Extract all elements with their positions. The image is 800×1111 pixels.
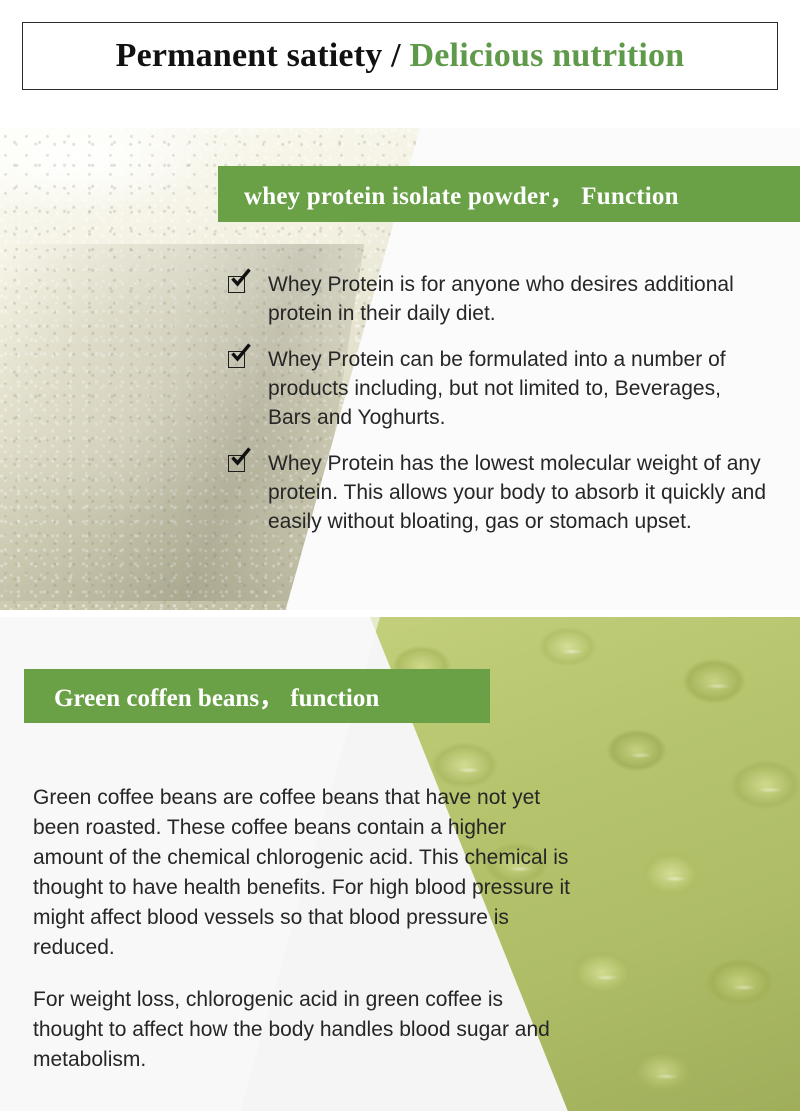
- whey-protein-benefit-list: Whey Protein is for anyone who desires a…: [228, 270, 788, 553]
- green-coffee-description: Green coffee beans are coffee beans that…: [33, 783, 573, 1097]
- list-item: Whey Protein has the lowest molecular we…: [228, 449, 788, 536]
- checkbox-checked-icon: [228, 455, 245, 472]
- paragraph: Green coffee beans are coffee beans that…: [33, 783, 573, 963]
- whey-protein-banner: whey protein isolate powder， Function: [218, 166, 800, 222]
- checkbox-checked-icon: [228, 351, 245, 368]
- page-title-primary: Permanent satiety: [116, 37, 383, 74]
- list-item: Whey Protein is for anyone who desires a…: [228, 270, 788, 328]
- check-mark-icon: [230, 343, 252, 365]
- check-mark-icon: [230, 268, 252, 290]
- checkbox-checked-icon: [228, 276, 245, 293]
- page-title: Permanent satiety / Delicious nutrition: [116, 37, 685, 75]
- green-coffee-banner: Green coffen beans， function: [24, 669, 490, 723]
- list-item: Whey Protein can be formulated into a nu…: [228, 345, 788, 432]
- page-title-separator: /: [391, 37, 401, 74]
- list-item-text: Whey Protein has the lowest molecular we…: [268, 449, 768, 536]
- green-coffee-section: Green coffen beans， function Green coffe…: [0, 617, 800, 1111]
- list-item-text: Whey Protein can be formulated into a nu…: [268, 345, 768, 432]
- check-mark-icon: [230, 447, 252, 469]
- list-item-text: Whey Protein is for anyone who desires a…: [268, 270, 768, 328]
- whey-protein-section: whey protein isolate powder， Function Wh…: [0, 128, 800, 610]
- page-title-accent: Delicious nutrition: [410, 37, 685, 74]
- page-header-box: Permanent satiety / Delicious nutrition: [22, 22, 778, 90]
- green-coffee-banner-label: Green coffen beans， function: [54, 678, 379, 714]
- whey-protein-banner-label: whey protein isolate powder， Function: [244, 176, 679, 212]
- paragraph: For weight loss, chlorogenic acid in gre…: [33, 985, 573, 1075]
